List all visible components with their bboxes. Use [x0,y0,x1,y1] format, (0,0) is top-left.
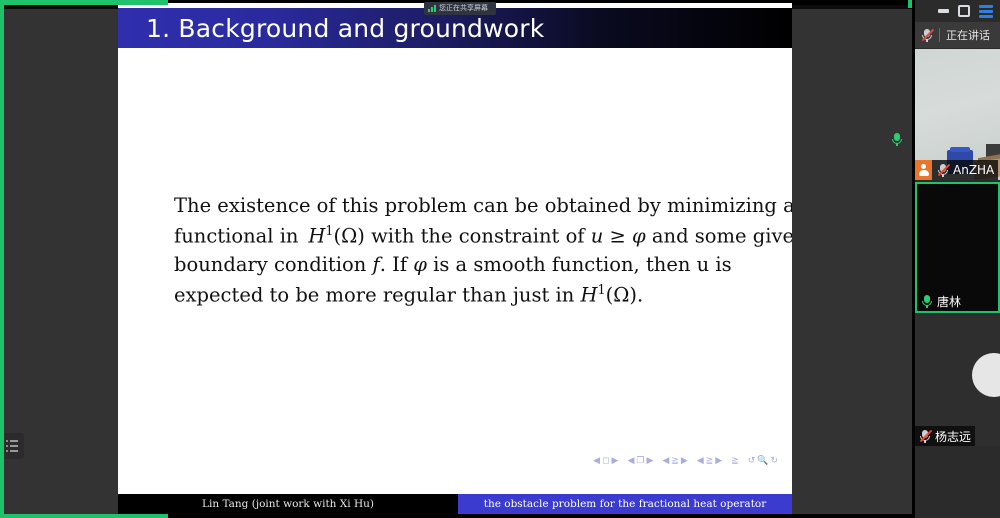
nav-section-group[interactable]: ◀≧▶ [697,456,722,466]
slide-line-1: The existence of this problem can be obt… [174,193,736,218]
signal-bars-icon [428,5,436,12]
participant-name-bar: AnZHA [915,160,998,180]
slide-footer-title: the obstacle problem for the fractional … [458,494,792,514]
floating-mic-indicator-icon [891,131,903,148]
minimize-button[interactable] [938,9,949,13]
mic-active-icon [921,294,933,308]
panel-titlebar [915,0,1000,22]
slide-line-2: functional in H1(Ω) with the constraint … [174,218,736,252]
mic-muted-icon [937,163,949,177]
speaking-status-bar: 正在讲话 [915,22,1000,49]
hamburger-menu-icon [979,5,993,18]
nav-slide-group[interactable]: ◀◻▶ [593,456,618,466]
slide-line-3: boundary condition f. If φ is a smooth f… [174,252,736,277]
slide-footer: Lin Tang (joint work with Xi Hu) the obs… [118,494,792,514]
nav-back-forward-icons[interactable]: ↺🔍↻ [748,456,778,466]
participant-name-bar: 杨志远 [915,426,975,446]
menu-button[interactable] [979,5,993,18]
share-border-bottom [0,514,168,518]
screen-root: 1. Background and groundwork The existen… [0,0,1000,518]
maximize-button[interactable] [958,5,970,17]
mic-muted-icon [921,28,933,42]
screen-share-badge[interactable]: 您正在共享屏幕 [424,2,496,15]
list-widget-icon [6,440,18,452]
presentation-slide: 1. Background and groundwork The existen… [118,3,792,514]
participant-video-tile[interactable]: AnZHA [915,49,1000,180]
share-border-top [0,0,168,5]
meeting-panel: 正在讲话 AnZHA [915,0,1000,518]
participant-video-tile[interactable]: 唐林 [915,182,1000,313]
nav-doc-icon[interactable]: ≧ [731,456,739,466]
nav-frame-group[interactable]: ◀❐▶ [627,456,653,466]
participant-name: 唐林 [937,293,961,310]
slide-line-4: expected to be more regular than just in… [174,277,736,308]
participant-video-tile[interactable]: 杨志远 [915,315,1000,446]
participant-name-bar: 唐林 [917,291,965,311]
status-divider [939,28,940,42]
slide-body: The existence of this problem can be obt… [118,48,792,488]
host-badge-icon [915,160,932,180]
beamer-navigation-symbols[interactable]: ◀◻▶ ◀❐▶ ◀≧▶ ◀≧▶ ≧ ↺🔍↻ [593,456,778,466]
screen-share-badge-label: 您正在共享屏幕 [439,5,488,12]
avatar [972,353,1000,397]
share-border-right [908,0,912,8]
participant-name: 杨志远 [935,428,971,445]
speaking-status-label: 正在讲话 [946,27,990,43]
slide-footer-author: Lin Tang (joint work with Xi Hu) [118,494,458,514]
share-border-left [0,0,4,518]
slide-title: 1. Background and groundwork [118,14,544,43]
nav-subsection-group[interactable]: ◀≧▶ [662,456,687,466]
mic-muted-icon [919,429,931,443]
slide-paragraph: The existence of this problem can be obt… [174,193,736,307]
participant-name: AnZHA [953,163,994,177]
